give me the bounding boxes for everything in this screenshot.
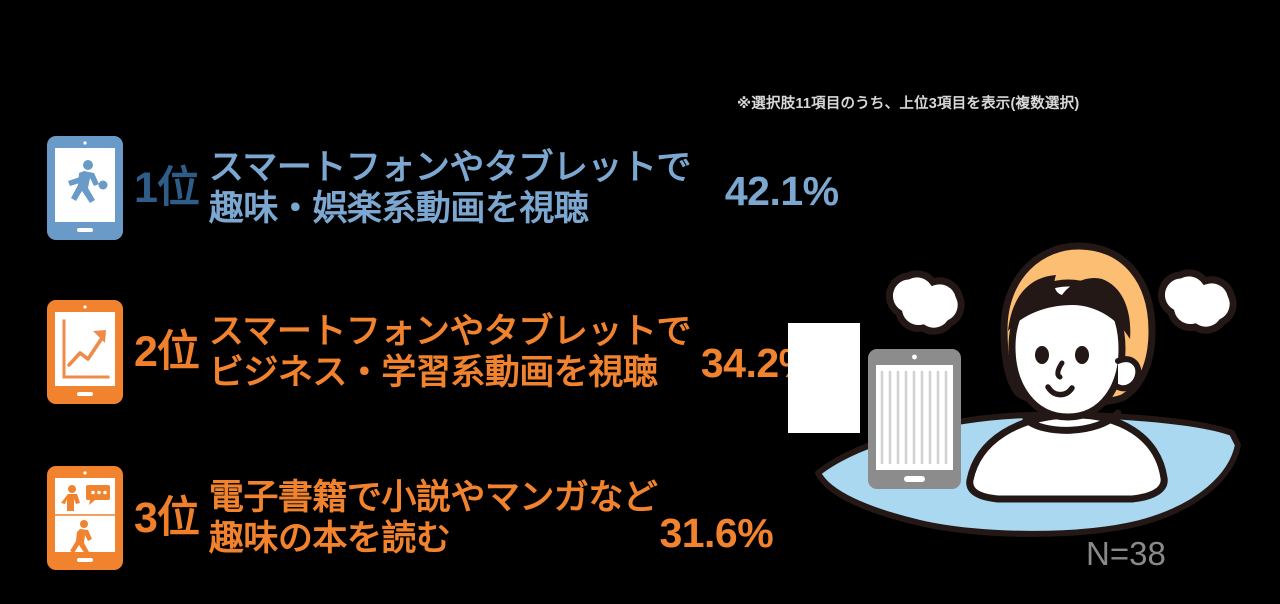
rank-description-line1: スマートフォンやタブレットで <box>209 147 691 188</box>
eye-right <box>1075 346 1089 364</box>
bubble-cloud-right <box>1161 273 1233 330</box>
bubble-cloud-left <box>889 274 961 331</box>
rank-description-line1: スマートフォンやタブレットで <box>209 311 691 352</box>
rank-description-line2: 趣味の本を読む <box>209 518 658 559</box>
rank-description: 電子書籍で小説やマンガなど 趣味の本を読む <box>209 477 658 560</box>
rank-description: スマートフォンやタブレットで 趣味・娯楽系動画を視聴 <box>209 147 691 230</box>
tablet-ebook-manga-icon <box>44 463 126 573</box>
white-card <box>788 323 860 433</box>
survey-note: ※選択肢11項目のうち、上位3項目を表示(複数選択) <box>737 92 1079 113</box>
rank-label: 3位 <box>134 497 199 540</box>
ranking-row: 2位 スマートフォンやタブレットで ビジネス・学習系動画を視聴 34.2% <box>44 292 815 412</box>
infographic-canvas: ※選択肢11項目のうち、上位3項目を表示(複数選択) 1位 スマートフォンやタブ… <box>0 0 1280 604</box>
rank-description-line2: ビジネス・学習系動画を視聴 <box>209 352 691 393</box>
ranking-row: 3位 電子書籍で小説やマンガなど 趣味の本を読む 31.6% <box>44 458 773 578</box>
tablet-business-chart-icon <box>44 297 126 407</box>
tablet-device <box>868 349 961 489</box>
rank-percent: 42.1% <box>725 168 839 215</box>
ranking-row: 1位 スマートフォンやタブレットで 趣味・娯楽系動画を視聴 42.1% <box>44 128 839 248</box>
bath-reading-illustration <box>780 235 1250 585</box>
sample-size-label: N=38 <box>1086 535 1166 573</box>
rank-percent: 31.6% <box>659 510 773 557</box>
rank-description: スマートフォンやタブレットで ビジネス・学習系動画を視聴 <box>209 311 691 394</box>
rank-description-line1: 電子書籍で小説やマンガなど <box>209 477 658 518</box>
rank-description-line2: 趣味・娯楽系動画を視聴 <box>209 188 691 229</box>
tablet-sports-video-icon <box>44 133 126 243</box>
rank-label: 1位 <box>134 167 199 210</box>
eye-left <box>1035 346 1049 364</box>
rank-label: 2位 <box>134 331 199 374</box>
